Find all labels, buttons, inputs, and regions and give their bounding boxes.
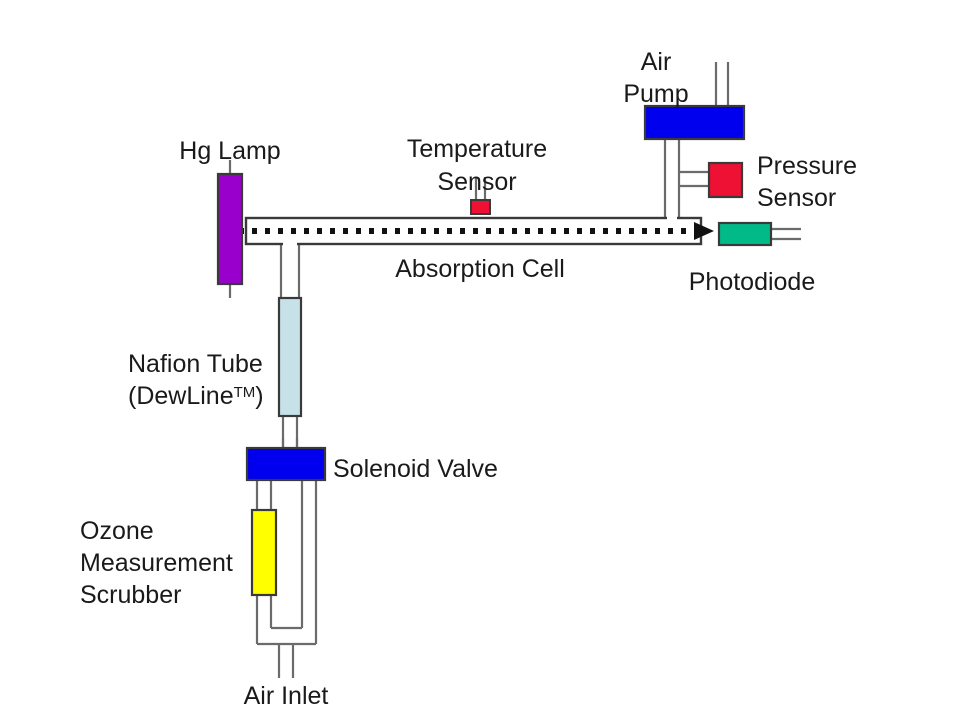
temperature-sensor-body[interactable] [471, 200, 490, 214]
ozone-photometer-diagram: Hg Lamp Temperature Sensor Air Pump Pres… [0, 0, 973, 723]
hg-lamp-body[interactable] [218, 174, 242, 284]
ozone-scrubber-body[interactable] [252, 510, 276, 595]
label-temperature-sensor-line1: Temperature [407, 135, 547, 163]
absorption-cell-port-patch [283, 241, 297, 247]
label-pressure-sensor-line2: Sensor [757, 184, 836, 212]
absorption-cell-pump-port-patch [667, 216, 677, 222]
label-nafion-tube-trademark: TM [234, 384, 256, 401]
nafion-tube-body[interactable] [279, 298, 301, 416]
label-solenoid-valve: Solenoid Valve [333, 455, 498, 483]
label-air-inlet: Air Inlet [244, 682, 329, 710]
label-absorption-cell: Absorption Cell [395, 255, 565, 283]
beam-arrowhead-icon [694, 222, 714, 240]
label-ozone-scrubber-line3: Scrubber [80, 581, 181, 609]
photodiode-body[interactable] [719, 223, 771, 245]
air-pump-body[interactable] [645, 106, 744, 139]
label-photodiode: Photodiode [689, 268, 816, 296]
label-pressure-sensor-line1: Pressure [757, 152, 857, 180]
label-hg-lamp: Hg Lamp [179, 137, 280, 165]
label-temperature-sensor-line2: Sensor [437, 168, 516, 196]
label-air-pump-line2: Pump [623, 80, 688, 108]
label-nafion-tube-suffix: ) [255, 382, 263, 410]
pressure-sensor-body[interactable] [709, 163, 742, 197]
label-ozone-scrubber-line1: Ozone [80, 517, 154, 545]
label-nafion-tube-prefix: (DewLine [128, 382, 234, 410]
solenoid-valve-body[interactable] [247, 448, 325, 480]
label-ozone-scrubber-line2: Measurement [80, 549, 233, 577]
label-nafion-tube-line2: (DewLineTM) [128, 382, 264, 410]
label-air-pump-line1: Air [641, 48, 672, 76]
label-nafion-tube-line1: Nafion Tube [128, 350, 263, 378]
